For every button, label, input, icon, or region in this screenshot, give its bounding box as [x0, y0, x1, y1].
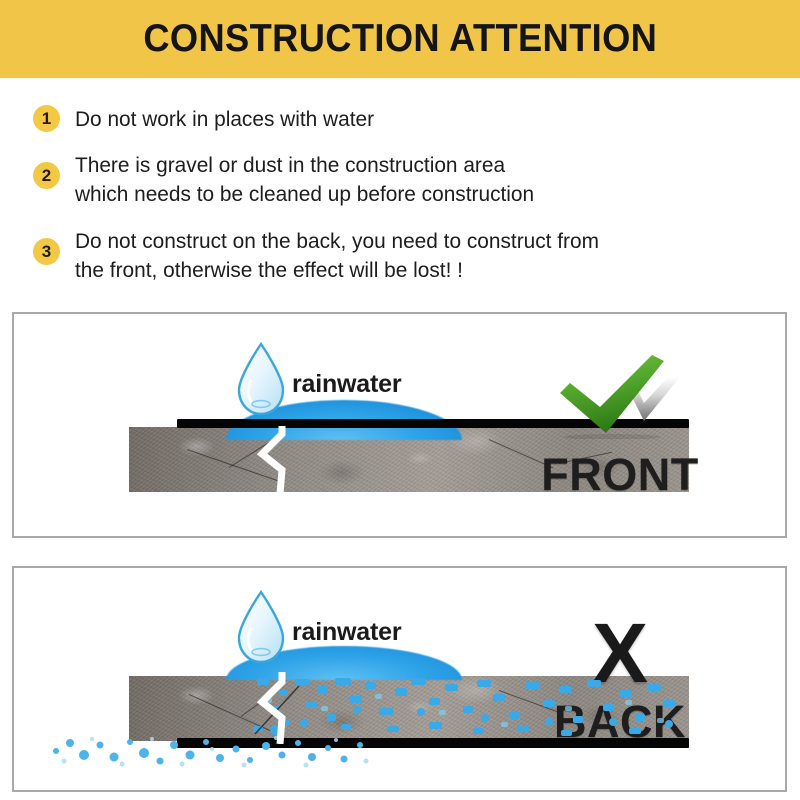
green-check-icon [556, 353, 684, 444]
rainwater-label: rainwater [292, 618, 401, 647]
note-text: Do not work in places with water [75, 105, 374, 134]
note-number-badge: 1 [33, 105, 60, 132]
header-band: CONSTRUCTION ATTENTION [0, 0, 800, 78]
note-number-badge: 2 [33, 162, 60, 189]
attention-notes-list: 1 Do not work in places with water 2 The… [0, 78, 800, 306]
water-splash [44, 733, 384, 769]
rainwater-label: rainwater [292, 370, 401, 399]
slab-crack-icon [252, 672, 296, 744]
note-number-badge: 3 [33, 238, 60, 265]
slab-crack-icon [252, 426, 296, 494]
verdict-label: FRONT [541, 452, 698, 497]
raindrop-icon [235, 342, 287, 416]
note-text: Do not construct on the back, you need t… [75, 227, 599, 285]
list-item: 1 Do not work in places with water [33, 105, 383, 134]
list-item: 3 Do not construct on the back, you need… [33, 227, 615, 285]
page-title: CONSTRUCTION ATTENTION [143, 17, 657, 61]
note-text: There is gravel or dust in the construct… [75, 151, 534, 209]
illustration-panel-front: rainwater [12, 312, 787, 538]
water-seepage [129, 676, 689, 741]
raindrop-icon [235, 590, 287, 664]
list-item: 2 There is gravel or dust in the constru… [33, 151, 548, 209]
illustration-panel-back: rainwater X BACK [12, 566, 787, 792]
verdict-front: FRONT [495, 314, 745, 536]
